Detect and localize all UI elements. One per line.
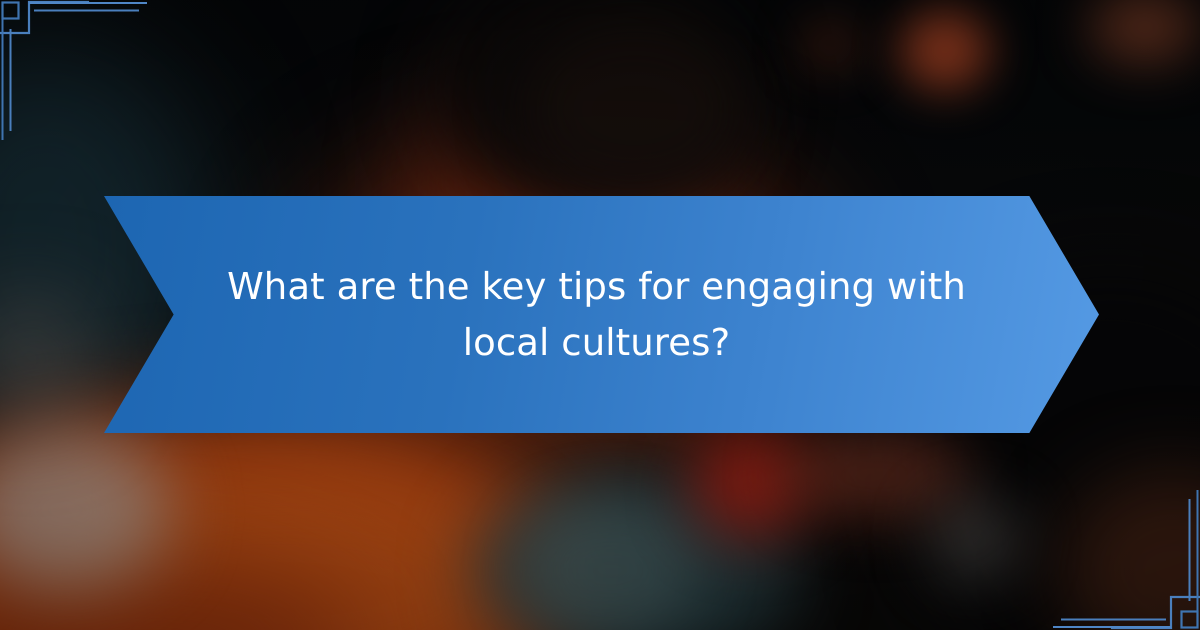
- banner-title: What are the key tips for engaging with …: [224, 258, 969, 370]
- banner-card: What are the key tips for engaging with …: [0, 0, 1200, 630]
- headline-banner: What are the key tips for engaging with …: [104, 196, 1099, 433]
